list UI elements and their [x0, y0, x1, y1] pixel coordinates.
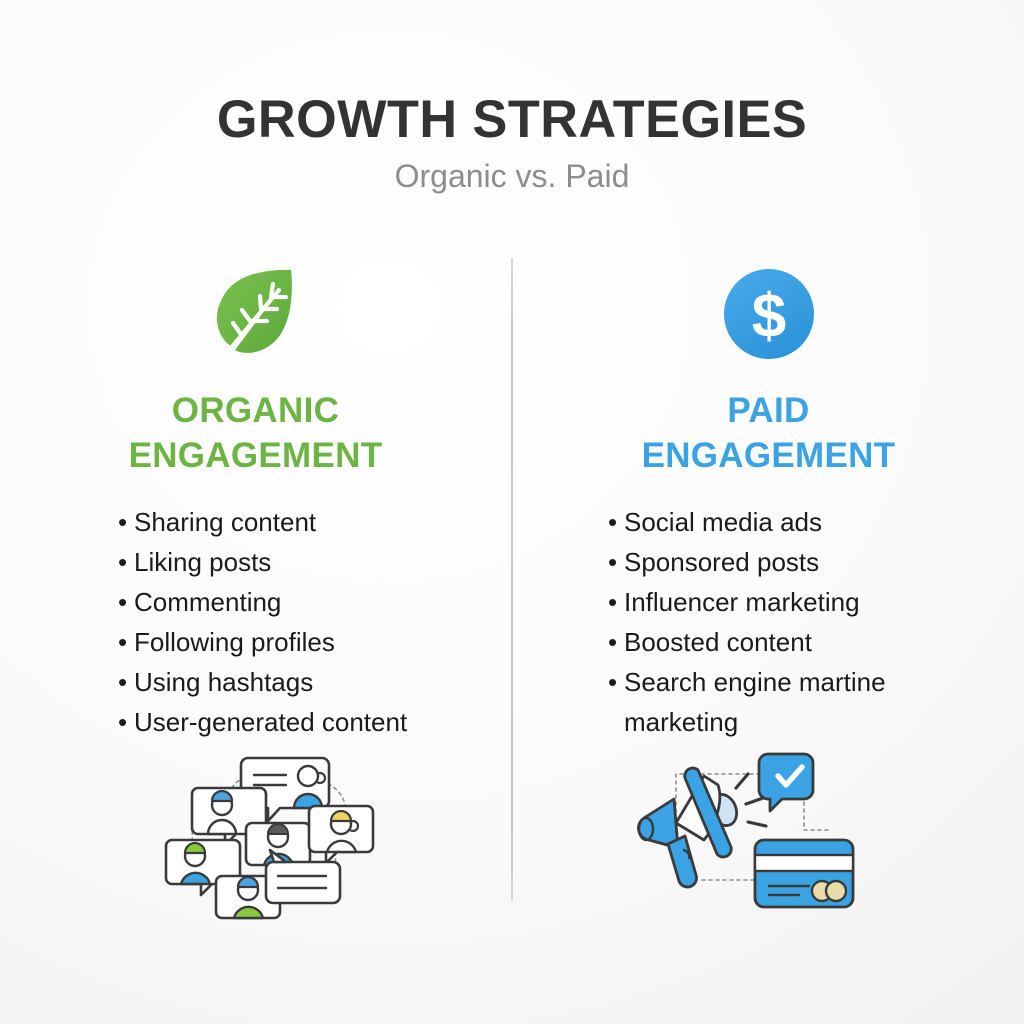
list-item: Following profiles	[118, 622, 491, 662]
paid-heading: PAID ENGAGEMENT	[513, 388, 1024, 478]
social-conversation-network-illustration	[160, 748, 382, 920]
list-item: Search engine martine marketing	[608, 662, 1006, 742]
growth-strategies-infographic: GROWTH STRATEGIES Organic vs. Paid	[0, 0, 1024, 1024]
page-subtitle: Organic vs. Paid	[0, 160, 1024, 192]
list-item: Using hashtags	[118, 662, 491, 702]
organic-heading: ORGANIC ENGAGEMENT	[0, 388, 511, 478]
list-item: Sponsored posts	[608, 542, 1006, 582]
list-item: Commenting	[118, 582, 491, 622]
dollar-circle-icon: $	[721, 266, 817, 362]
chat-bubble-avatar	[309, 806, 373, 863]
organic-bullet-list: Sharing content Liking posts Commenting …	[0, 502, 511, 742]
list-item: Influencer marketing	[608, 582, 1006, 622]
list-item: Liking posts	[118, 542, 491, 582]
organic-icon-wrap	[0, 258, 511, 370]
header: GROWTH STRATEGIES Organic vs. Paid	[0, 0, 1024, 192]
list-item: Social media ads	[608, 502, 1006, 542]
paid-bullet-list: Social media ads Sponsored posts Influen…	[513, 502, 1024, 742]
credit-card-icon	[755, 840, 853, 907]
leaf-icon	[207, 264, 303, 364]
list-item: User-generated content	[118, 702, 491, 742]
megaphone-credit-card-illustration	[632, 744, 862, 922]
list-item: Boosted content	[608, 622, 1006, 662]
list-item: Sharing content	[118, 502, 491, 542]
svg-text:$: $	[751, 282, 785, 351]
organic-column: ORGANIC ENGAGEMENT Sharing content Likin…	[0, 258, 511, 742]
paid-icon-wrap: $	[513, 258, 1024, 370]
checkmark-bubble-icon	[759, 754, 813, 811]
megaphone-icon	[638, 768, 741, 887]
page-title: GROWTH STRATEGIES	[8, 93, 1017, 146]
paid-column: $ PAID ENGAGEMENT Social media ads Spons…	[513, 258, 1024, 742]
